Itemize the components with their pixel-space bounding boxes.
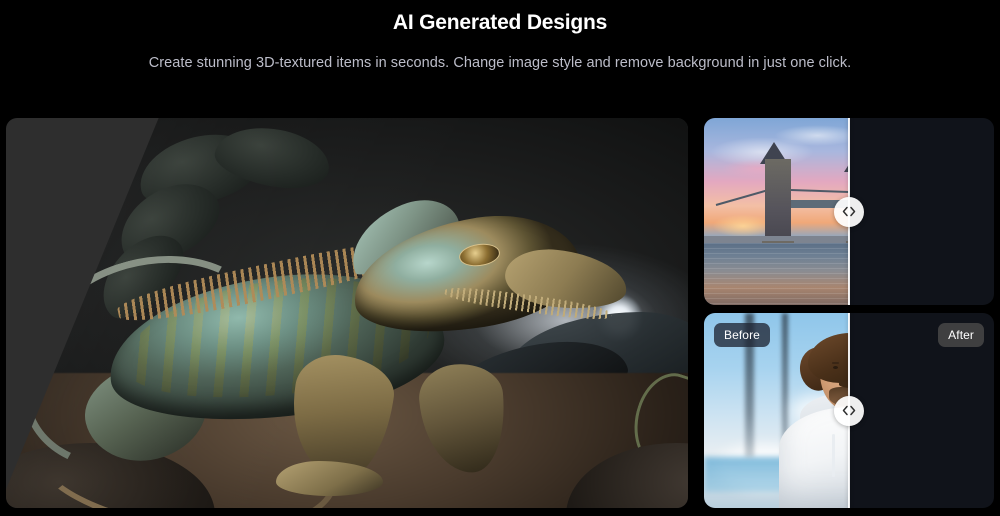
main-3d-render-card[interactable] bbox=[6, 118, 688, 508]
style-transfer-card[interactable] bbox=[704, 118, 994, 305]
compare-slider-icon bbox=[842, 405, 856, 416]
compare-cards-column: Before After bbox=[704, 118, 994, 508]
hoodie-drawstring bbox=[832, 434, 835, 477]
style-pane-original bbox=[704, 118, 849, 305]
sunset-glow bbox=[713, 215, 773, 237]
river-water bbox=[704, 243, 849, 305]
page-title: AI Generated Designs bbox=[0, 9, 1000, 37]
lizard-creature bbox=[6, 118, 688, 508]
person-hair bbox=[808, 333, 849, 384]
badge-before: Before bbox=[714, 323, 770, 347]
compare-slider-handle[interactable] bbox=[834, 396, 864, 426]
badge-after: After bbox=[938, 323, 984, 347]
style-pane-stylized bbox=[849, 118, 994, 305]
ai-generated-designs-section: AI Generated Designs Create stunning 3D-… bbox=[0, 0, 1000, 516]
lizard-back-leg bbox=[416, 361, 509, 477]
perspective-plane bbox=[6, 118, 688, 508]
person-eyebrow bbox=[832, 362, 839, 364]
bridge-cable bbox=[791, 189, 849, 193]
page-subtitle: Create stunning 3D-textured items in sec… bbox=[0, 52, 1000, 74]
section-header: AI Generated Designs Create stunning 3D-… bbox=[0, 0, 1000, 74]
person-eye bbox=[833, 366, 838, 369]
tower-bridge-photo bbox=[704, 118, 849, 305]
compare-slider-handle[interactable] bbox=[834, 197, 864, 227]
showcase-gallery: Before After bbox=[6, 118, 994, 508]
bridge-cable bbox=[715, 190, 766, 206]
background-removal-card[interactable]: Before After bbox=[704, 313, 994, 508]
compare-slider-icon bbox=[842, 206, 856, 217]
render-scene bbox=[6, 118, 688, 508]
